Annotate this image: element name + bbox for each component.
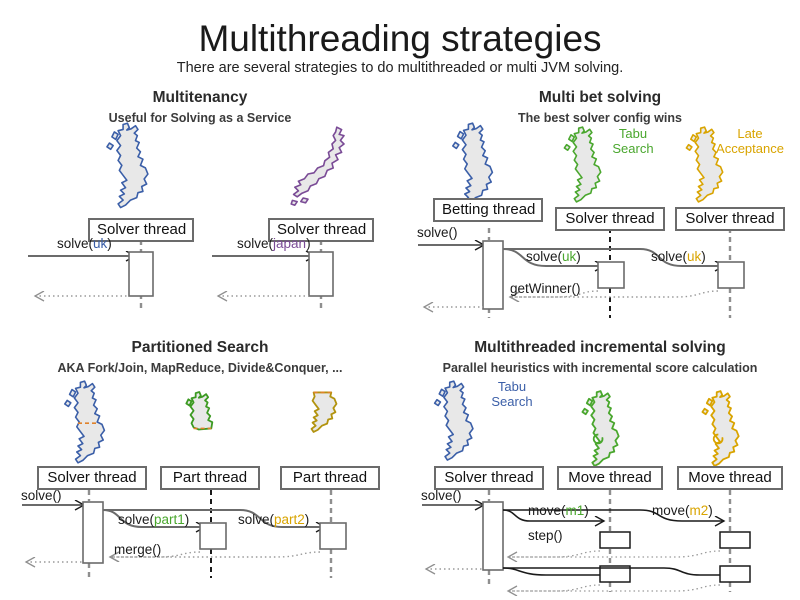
quadrant-subtitle: Useful for Solving as a Service (0, 111, 400, 125)
message-suffix: ) (584, 503, 589, 518)
message-prefix: solve( (651, 249, 687, 264)
quadrant-subtitle: AKA Fork/Join, MapReduce, Divide&Conquer… (0, 361, 400, 375)
quadrant-partitioned-search: Partitioned Search AKA Fork/Join, MapRed… (0, 335, 400, 600)
message-prefix: solve( (118, 512, 154, 527)
quadrant-subtitle: Parallel heuristics with incremental sco… (400, 361, 800, 375)
quadrant-multi-bet-solving: Multi bet solving The best solver config… (400, 85, 800, 320)
solve-message: solve() (21, 488, 62, 503)
thread-box-solver[interactable]: Solver thread (37, 466, 147, 490)
message-suffix: ) (306, 236, 311, 251)
solve-part1-message: solve(part1) (118, 512, 189, 527)
thread-box-part2[interactable]: Part thread (280, 466, 380, 490)
tabu-search-label: Tabu Search (590, 127, 676, 157)
solve-uk-message: solve(uk) (57, 236, 112, 251)
tabu-search-line1: Tabu (590, 127, 676, 142)
solve-message: solve() (421, 488, 462, 503)
solve-japan-message: solve(japan) (237, 236, 311, 251)
quadrant-title: Multi bet solving (400, 89, 800, 107)
quadrant-subtitle: The best solver config wins (400, 111, 800, 125)
late-acceptance-line1: Late (700, 127, 800, 142)
page-title: Multithreading strategies (0, 18, 800, 60)
solve-part2-message: solve(part2) (238, 512, 309, 527)
message-arg: part2 (274, 512, 305, 527)
thread-box-solver-green[interactable]: Solver thread (555, 207, 665, 231)
message-prefix: solve( (526, 249, 562, 264)
merge-message: merge() (114, 542, 161, 557)
solve-uk-gold-message: solve(uk) (651, 249, 706, 264)
message-arg: uk (93, 236, 107, 251)
tabu-search-line2: Search (590, 142, 676, 157)
thread-box-solver[interactable]: Solver thread (434, 466, 544, 490)
tabu-search-line1: Tabu (472, 380, 552, 395)
message-prefix: move( (528, 503, 566, 518)
late-acceptance-line2: Acceptance (700, 142, 800, 157)
message-arg: japan (273, 236, 306, 251)
page-subtitle: There are several strategies to do multi… (0, 60, 800, 76)
move-m2-message: move(m2) (652, 503, 713, 518)
message-suffix: ) (576, 249, 581, 264)
thread-box-betting[interactable]: Betting thread (433, 198, 543, 222)
slide-root: Multithreading strategies There are seve… (0, 0, 800, 600)
thread-box-solver-gold[interactable]: Solver thread (675, 207, 785, 231)
message-prefix: solve( (237, 236, 273, 251)
get-winner-message: getWinner() (510, 281, 581, 296)
message-prefix: solve( (57, 236, 93, 251)
quadrant-multitenancy: Multitenancy Useful for Solving as a Ser… (0, 85, 400, 320)
message-arg: part1 (154, 512, 185, 527)
message-suffix: ) (708, 503, 713, 518)
quadrant-title: Multithreaded incremental solving (400, 339, 800, 357)
move-m1-message: move(m1) (528, 503, 589, 518)
quadrant-multithreaded-incremental-solving: Multithreaded incremental solving Parall… (400, 335, 800, 600)
step-message: step() (528, 528, 563, 543)
message-suffix: ) (107, 236, 112, 251)
message-arg: uk (687, 249, 701, 264)
solve-message: solve() (417, 225, 458, 240)
message-arg: m1 (566, 503, 585, 518)
message-prefix: solve( (238, 512, 274, 527)
tabu-search-line2: Search (472, 395, 552, 410)
quadrant-title: Multitenancy (0, 89, 400, 107)
tabu-search-label: Tabu Search (472, 380, 552, 410)
solve-uk-green-message: solve(uk) (526, 249, 581, 264)
message-suffix: ) (185, 512, 190, 527)
thread-box-move1[interactable]: Move thread (557, 466, 663, 490)
thread-box-move2[interactable]: Move thread (677, 466, 783, 490)
message-arg: m2 (690, 503, 709, 518)
thread-box-part1[interactable]: Part thread (160, 466, 260, 490)
message-suffix: ) (701, 249, 706, 264)
message-arg: uk (562, 249, 576, 264)
message-prefix: move( (652, 503, 690, 518)
message-suffix: ) (305, 512, 310, 527)
late-acceptance-label: Late Acceptance (700, 127, 800, 157)
quadrant-title: Partitioned Search (0, 339, 400, 357)
